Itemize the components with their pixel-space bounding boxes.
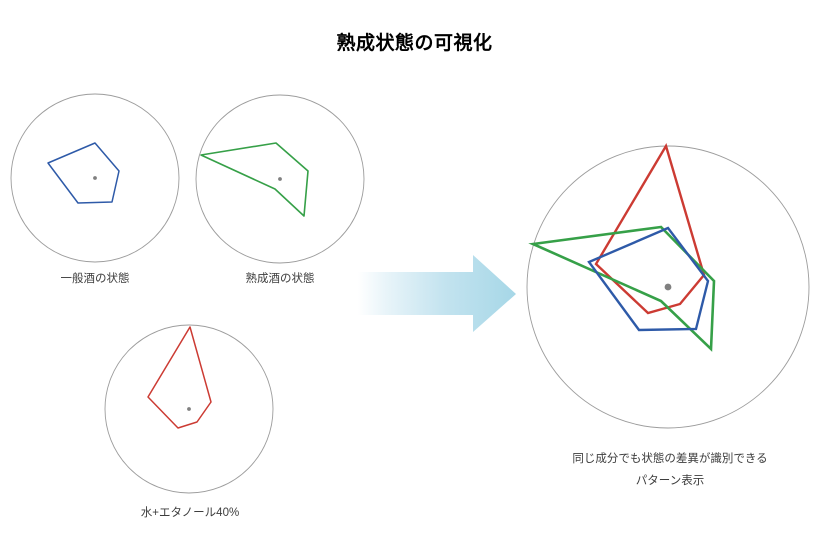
caption-general-sake: 一般酒の状態	[15, 270, 175, 286]
large-chart-combined[interactable]	[527, 146, 809, 428]
caption-aged-sake: 熟成酒の状態	[200, 270, 360, 286]
radar-polygon-red	[148, 327, 211, 428]
caption-combined-chart: 同じ成分でも状態の差異が識別できる パターン表示	[528, 448, 812, 492]
slide-canvas: 熟成状態の可視化	[0, 0, 829, 554]
radar-polygon-green	[201, 143, 308, 216]
radar-polygon-blue	[589, 228, 708, 330]
caption-water-ethanol: 水+エタノール40%	[110, 504, 270, 520]
radar-polygon-red	[596, 146, 704, 313]
radar-outline-circle	[527, 146, 809, 428]
arrow-shape	[358, 255, 516, 332]
radar-polygon-blue	[48, 143, 119, 203]
transformation-arrow	[358, 255, 516, 332]
small-chart-general-sake[interactable]	[11, 94, 179, 262]
caption-combined-line-2: パターン表示	[528, 470, 812, 492]
small-chart-aged-sake[interactable]	[196, 95, 364, 263]
caption-combined-line-1: 同じ成分でも状態の差異が識別できる	[528, 448, 812, 470]
radar-polygon-green	[533, 227, 714, 349]
radar-center-dot	[278, 177, 282, 181]
radar-center-dot	[93, 176, 97, 180]
small-chart-water-ethanol[interactable]	[105, 325, 273, 493]
radar-center-dot	[187, 407, 191, 411]
page-title: 熟成状態の可視化	[0, 28, 829, 55]
radar-outline-circle	[105, 325, 273, 493]
radar-outline-circle	[196, 95, 364, 263]
radar-outline-circle	[11, 94, 179, 262]
radar-center-dot	[665, 284, 672, 291]
